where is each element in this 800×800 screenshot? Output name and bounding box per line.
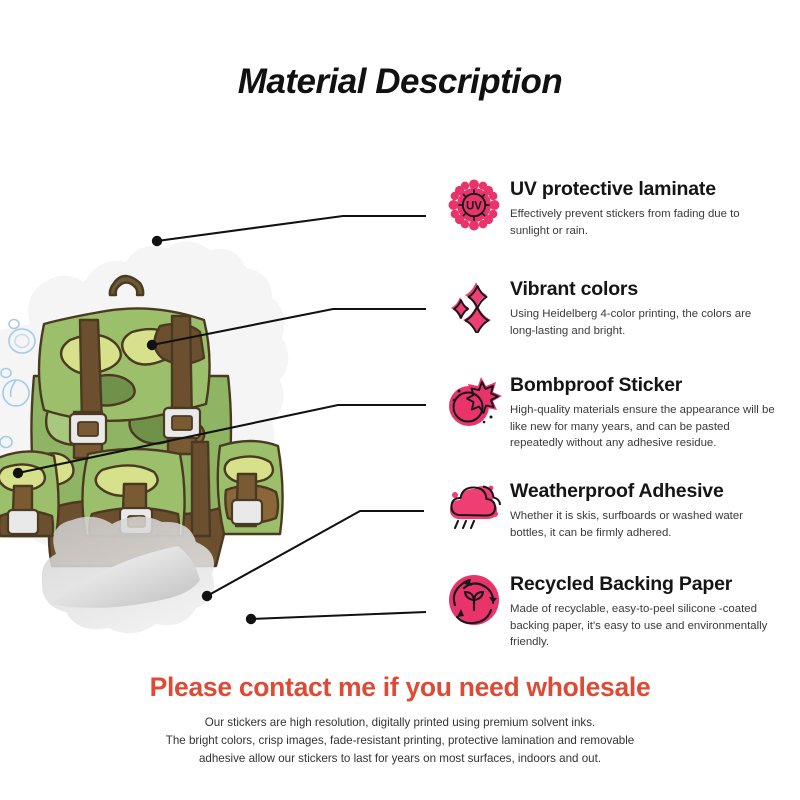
feature-item-vibrant-colors: Vibrant colors Using Heidelberg 4-color … xyxy=(446,275,778,339)
uv-icon-label: UV xyxy=(466,200,482,212)
feature-body: Using Heidelberg 4-color printing, the c… xyxy=(510,306,778,338)
feature-title: Weatherproof Adhesive xyxy=(510,481,778,502)
footer-blurb: Our stickers are high resolution, digita… xyxy=(0,714,800,768)
feature-title: Recycled Backing Paper xyxy=(510,574,778,595)
feature-body: High-quality materials ensure the appear… xyxy=(510,402,778,451)
feature-title: Bombproof Sticker xyxy=(510,375,778,396)
feature-body: Made of recyclable, easy-to-peel silicon… xyxy=(510,601,778,650)
feature-item-recycled-backing-paper: Recycled Backing Paper Made of recyclabl… xyxy=(446,570,778,650)
footer-blurb-line-2: The bright colors, crisp images, fade-re… xyxy=(0,732,800,750)
footer-blurb-line-1: Our stickers are high resolution, digita… xyxy=(0,714,800,732)
feature-body: Whether it is skis, surfboards or washed… xyxy=(510,508,778,540)
product-sticker-image xyxy=(0,228,342,648)
rain-cloud-icon xyxy=(446,479,502,535)
feature-body: Effectively prevent stickers from fading… xyxy=(510,206,778,238)
bomb-icon xyxy=(446,373,502,429)
feature-item-uv-protective-laminate: UV UV protective laminate Effectively pr… xyxy=(446,175,778,239)
material-description-page: Material Description xyxy=(0,0,800,800)
feature-title: Vibrant colors xyxy=(510,279,778,300)
feature-title: UV protective laminate xyxy=(510,179,778,200)
page-title: Material Description xyxy=(0,62,800,102)
recycle-plant-icon xyxy=(446,572,502,628)
feature-item-weatherproof-adhesive: Weatherproof Adhesive Whether it is skis… xyxy=(446,477,778,541)
uv-sun-icon: UV xyxy=(446,177,502,233)
peeling-corner xyxy=(42,516,214,633)
footer-blurb-line-3: adhesive allow our stickers to last for … xyxy=(0,750,800,768)
feature-item-bombproof-sticker: Bombproof Sticker High-quality materials… xyxy=(446,371,778,451)
wholesale-call-to-action: Please contact me if you need wholesale xyxy=(0,672,800,703)
sparkles-icon xyxy=(446,277,502,333)
